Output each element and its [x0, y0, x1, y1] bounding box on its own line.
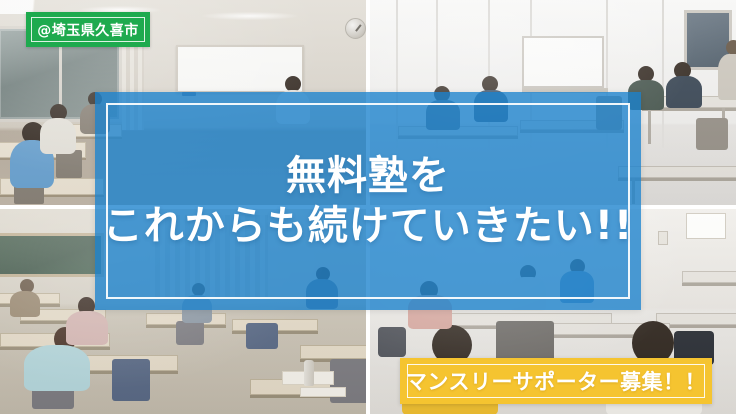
location-badge: @埼玉県久喜市	[26, 12, 150, 47]
chair	[56, 150, 82, 178]
chair	[112, 359, 150, 401]
partition-seam	[662, 0, 664, 148]
location-badge-label: @埼玉県久喜市	[37, 20, 139, 40]
headline-banner: 無料塾を これからも続けていきたい!!	[95, 92, 641, 310]
water-bottle	[304, 360, 314, 386]
paper	[300, 387, 346, 397]
headline-line-1: 無料塾を	[286, 155, 450, 197]
student-body	[24, 345, 90, 391]
chair	[176, 321, 204, 345]
headline-line-2: これからも続けていきたい!!	[103, 205, 633, 247]
student-body	[40, 118, 76, 154]
backpack	[378, 327, 406, 357]
desk	[300, 345, 366, 359]
student-body	[666, 76, 702, 108]
poster-root: 無料塾を これからも続けていきたい!! @埼玉県久喜市 マンスリーサポーター募集…	[0, 0, 736, 414]
chair	[696, 118, 728, 150]
chair	[246, 323, 278, 349]
table	[682, 271, 736, 283]
staff-head	[726, 40, 736, 55]
wall-switch	[658, 231, 668, 245]
cta-badge[interactable]: マンスリーサポーター募集！！	[400, 358, 712, 404]
wall-clock-icon	[345, 18, 366, 39]
student-body	[66, 311, 108, 345]
staff-body	[718, 54, 736, 100]
wall-notice	[686, 213, 726, 239]
student-body	[10, 291, 40, 317]
headline-text-wrap: 無料塾を これからも続けていきたい!!	[95, 92, 641, 310]
whiteboard	[522, 36, 604, 88]
cta-badge-label: マンスリーサポーター募集！！	[406, 366, 706, 396]
table-leg	[648, 108, 651, 144]
chalkboard	[0, 233, 104, 277]
